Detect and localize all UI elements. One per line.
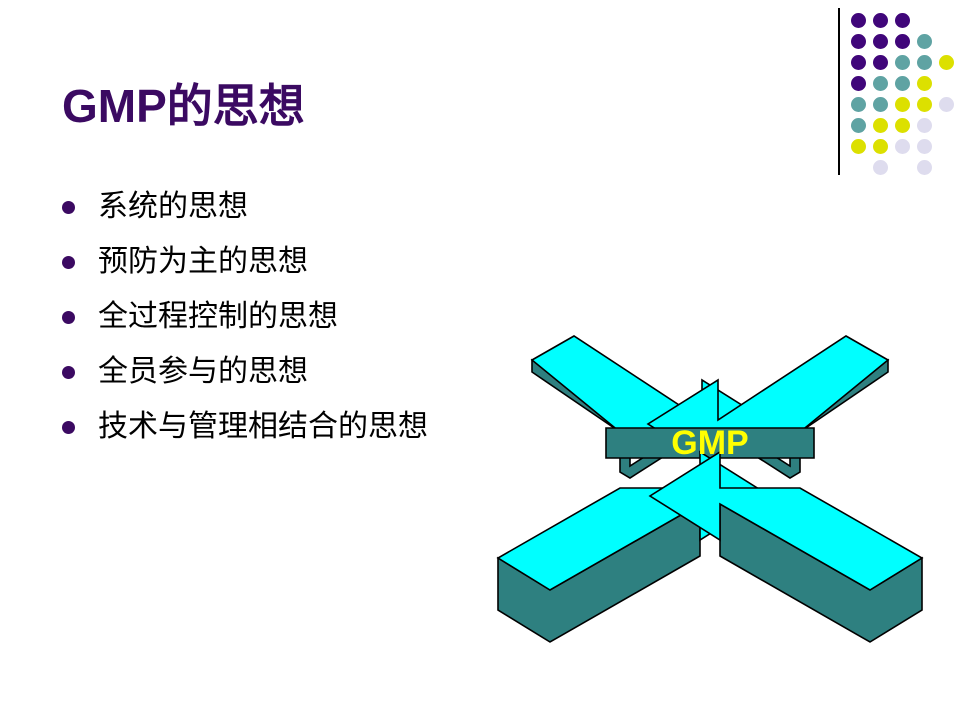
decorative-dot [851,118,866,133]
page-title: GMP的思想 [62,82,305,130]
bullet-dot-icon [62,311,75,324]
arrows-svg [470,320,950,660]
decorative-dot [873,13,888,28]
decorative-dot-grid [830,0,960,190]
decorative-dot [851,34,866,49]
decorative-dot [873,34,888,49]
decorative-dot [917,34,932,49]
decorative-dot [939,55,954,70]
list-item-label: 预防为主的思想 [98,245,308,278]
decorative-dot [851,55,866,70]
bullet-dot-icon [62,256,75,269]
decorative-dot [917,55,932,70]
list-item-label: 技术与管理相结合的思想 [98,410,428,443]
decorative-dot [917,139,932,154]
decorative-dot [873,139,888,154]
decorative-dot [917,97,932,112]
decorative-dot [895,118,910,133]
list-item: 预防为主的思想 [56,239,616,284]
decorative-dot [917,76,932,91]
decorative-dot [895,97,910,112]
decorative-dot [895,76,910,91]
list-item: 系统的思想 [56,184,616,229]
decorative-dot [939,97,954,112]
decorative-dot [873,160,888,175]
bullet-dot-icon [62,201,75,214]
decorative-dot [851,97,866,112]
converging-arrows-graphic: GMP [470,320,950,660]
decorative-dot [873,76,888,91]
decorative-dot [895,139,910,154]
decorative-dot [873,97,888,112]
decorative-dot [895,13,910,28]
list-item-label: 全员参与的思想 [98,355,308,388]
dot-grid-dots [830,0,960,190]
decorative-dot [851,139,866,154]
slide-canvas: GMP的思想 系统的思想 预防为主的思想 全过程控制的思想 全员参与的思想 技术… [0,0,960,720]
bullet-dot-icon [62,366,75,379]
list-item-label: 全过程控制的思想 [98,300,338,333]
decorative-dot [851,76,866,91]
decorative-dot [873,55,888,70]
decorative-dot [917,118,932,133]
list-item-label: 系统的思想 [98,190,248,223]
decorative-dot [895,55,910,70]
decorative-dot [895,34,910,49]
bullet-dot-icon [62,421,75,434]
decorative-dot [917,160,932,175]
arrow-center-band [606,428,814,458]
decorative-dot [873,118,888,133]
decorative-dot [851,13,866,28]
